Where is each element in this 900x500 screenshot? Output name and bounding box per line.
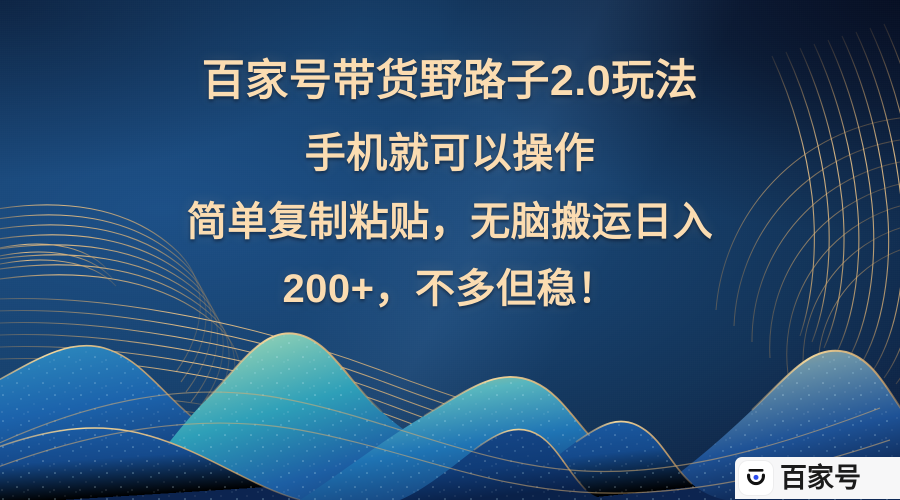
baijiahao-watermark-text: 百家号 (780, 465, 861, 492)
baijiahao-logo-icon (739, 461, 773, 495)
baijiahao-glyph (743, 465, 769, 491)
mountain-layers (0, 0, 900, 500)
poster-canvas: 百家号带货野路子2.0玩法 手机就可以操作 简单复制粘贴，无脑搬运日入 200+… (0, 0, 900, 500)
baijiahao-watermark: 百家号 (735, 457, 900, 499)
